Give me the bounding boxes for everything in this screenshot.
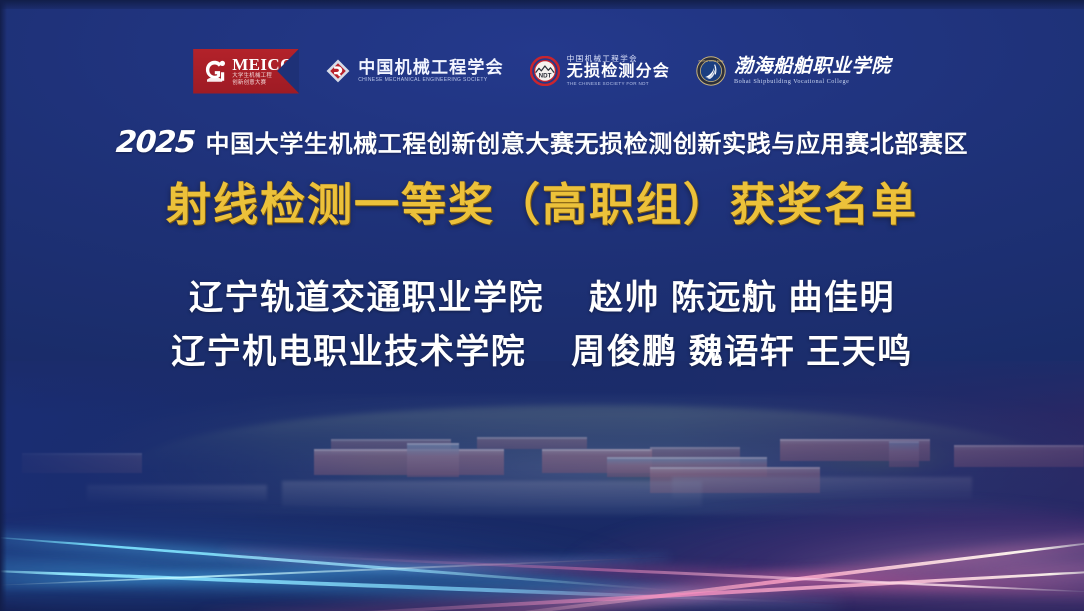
- ndt-name-en: THE CHINESE SOCIETY FOR NDT: [567, 82, 670, 87]
- sponsor-logo-strip: MEICC 大学生机械工程 创新创意大赛 中国机械工程学会 CHINESE ME…: [0, 42, 1084, 100]
- ndt-branch-logo: NDT 中国机械工程学会 无损检测分会 THE CHINESE SOCIETY …: [530, 42, 670, 100]
- bohai-name-en: Bohai Shipbuilding Vocational College: [734, 79, 891, 85]
- poster-stage: MEICC 大学生机械工程 创新创意大赛 中国机械工程学会 CHINESE ME…: [0, 0, 1084, 611]
- winner-members: 周俊鹏 魏语轩 王天鸣: [571, 326, 912, 380]
- winners-list: 辽宁轨道交通职业学院 赵帅 陈远航 曲佳明 辽宁机电职业技术学院 周俊鹏 魏语轩…: [0, 272, 1084, 379]
- meicc-logo-text: MEICC 大学生机械工程 创新创意大赛: [232, 56, 293, 87]
- winner-school: 辽宁机电职业技术学院: [171, 326, 571, 380]
- meicc-sub-line-2: 创新创意大赛: [232, 81, 293, 86]
- cmes-logo: 中国机械工程学会 CHINESE MECHANICAL ENGINEERING …: [325, 42, 504, 100]
- photo-blue-tint: [0, 361, 1084, 611]
- bohai-college-logo: BOHAI COLLEGE 渤海船舶职业学院 Bohai Shipbuildin…: [696, 42, 891, 100]
- ndt-logo-text: 中国机械工程学会 无损检测分会 THE CHINESE SOCIETY FOR …: [567, 55, 670, 87]
- winner-school: 辽宁轨道交通职业学院: [189, 272, 589, 326]
- meicc-logo: MEICC 大学生机械工程 创新创意大赛: [193, 49, 299, 94]
- campus-photo-backdrop: [0, 361, 1084, 611]
- event-subtitle-row: 2025 中国大学生机械工程创新创意大赛无损检测创新实践与应用赛北部赛区: [0, 124, 1084, 160]
- winner-row: 辽宁机电职业技术学院 周俊鹏 魏语轩 王天鸣: [0, 326, 1084, 380]
- svg-text:BOHAI COLLEGE: BOHAI COLLEGE: [698, 59, 723, 63]
- bohai-logo-text: 渤海船舶职业学院 Bohai Shipbuilding Vocational C…: [734, 57, 891, 85]
- svg-text:NDT: NDT: [538, 73, 551, 80]
- meicc-badge-text: MEICC: [232, 56, 293, 73]
- winner-members: 赵帅 陈远航 曲佳明: [589, 272, 895, 326]
- meicc-g-icon: [200, 56, 230, 86]
- cmes-name-cn: 中国机械工程学会: [358, 59, 504, 76]
- ndt-parent-org: 中国机械工程学会: [567, 55, 670, 63]
- page-title: 射线检测一等奖（高职组）获奖名单: [0, 168, 1084, 233]
- ndt-seal-icon: NDT: [530, 56, 560, 86]
- winner-row: 辽宁轨道交通职业学院 赵帅 陈远航 曲佳明: [0, 272, 1084, 326]
- event-year: 2025: [115, 125, 196, 160]
- bohai-name-cn: 渤海船舶职业学院: [734, 57, 891, 76]
- ndt-branch-name: 无损检测分会: [567, 64, 670, 80]
- event-subtitle: 中国大学生机械工程创新创意大赛无损检测创新实践与应用赛北部赛区: [206, 124, 969, 159]
- top-edge-band: [0, 0, 1084, 9]
- meicc-sub-line-1: 大学生机械工程: [232, 74, 293, 79]
- cmes-logo-text: 中国机械工程学会 CHINESE MECHANICAL ENGINEERING …: [358, 59, 504, 84]
- cmes-diamond-icon: [325, 58, 351, 84]
- cmes-name-en: CHINESE MECHANICAL ENGINEERING SOCIETY: [358, 78, 504, 83]
- bohai-seal-icon: BOHAI COLLEGE: [696, 56, 726, 86]
